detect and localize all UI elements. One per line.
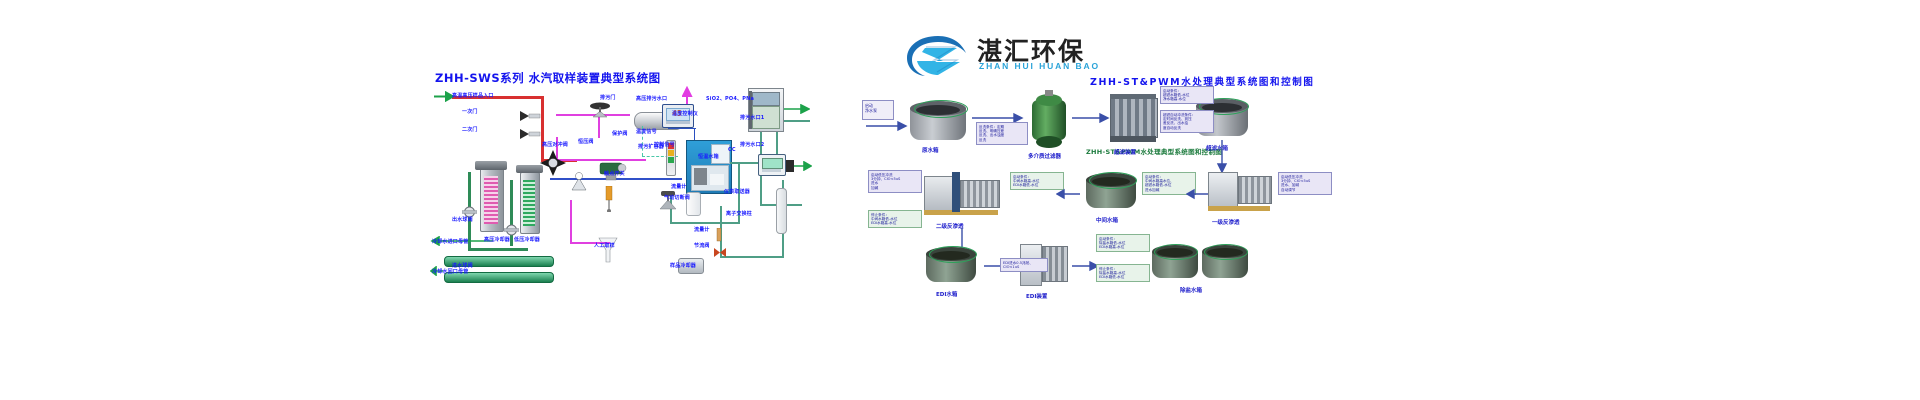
label-cooler-2: 低压冷却器 bbox=[514, 238, 540, 244]
label-sample-cooler: 样品冷却器 bbox=[670, 264, 696, 270]
cooler-lp-coil bbox=[523, 180, 535, 226]
flow-arrow-3 bbox=[1070, 112, 1110, 124]
backwash-condition-callout: 反洗条件：定期 反洗、明确压差 反洗、出水浊度 反洗 bbox=[976, 122, 1028, 145]
cooler-hp-coil bbox=[484, 176, 498, 224]
label-temp-controller: 温度控制仪 bbox=[672, 112, 698, 118]
pipe-teal-3 bbox=[670, 222, 740, 224]
diagram-right: ZHH-ST&PWM水处理典型系统图和控制图 ZHH-ST&PWM水处理典型系统… bbox=[860, 60, 1340, 310]
multimedia-filter-caption: 多介质过滤器 bbox=[1028, 152, 1061, 160]
drain-out-1-arrow-icon bbox=[784, 104, 810, 114]
product-stop-callout: 停止条件： 除盐水箱高-水位 EDI水箱低-水位 bbox=[1096, 264, 1150, 282]
label-blowdown-valve: 排污门 bbox=[600, 96, 616, 102]
label-flowmeter-1: 流量计 bbox=[671, 185, 687, 191]
product-tank-caption: 除盐水箱 bbox=[1180, 286, 1202, 294]
diagram-right-subtitle: ZHH-ST&PWM水处理典型系统图和控制图 bbox=[1086, 146, 1222, 156]
ro-first-stage-caption: 一级反渗透 bbox=[1212, 218, 1240, 226]
label-hp-impact-valve: 高压对冲阀 bbox=[542, 143, 568, 149]
analyzer-sio2-po4-pna bbox=[748, 88, 784, 132]
flow-arrow-1 bbox=[862, 120, 908, 132]
ultra-flush-callout: 超滤自动冲洗条件： 定时间反洗、到压 差反洗、出水浊 度自动反洗 bbox=[1160, 110, 1214, 133]
label-cool-out-header: 冷却水回口母管 bbox=[432, 270, 468, 276]
product-water-tank-b bbox=[1202, 244, 1248, 282]
cc-conductivity-meter bbox=[758, 154, 786, 176]
label-cc-meter: CC bbox=[728, 148, 736, 154]
label-manual-sample: 人工取样 bbox=[594, 244, 615, 250]
inlet-ball-valve-icon bbox=[504, 222, 519, 238]
manual-sampling-funnel-icon bbox=[596, 236, 620, 264]
label-inlet: 高温高压样品入口 bbox=[452, 94, 494, 100]
product-water-tank-a bbox=[1152, 244, 1198, 282]
multimedia-filter bbox=[1032, 94, 1066, 148]
label-const-press: 恒压阀 bbox=[578, 140, 594, 146]
label-valve1: 一次门 bbox=[462, 110, 478, 116]
diagram-left: ZHH-SWS系列 水汽取样装置典型系统图 bbox=[420, 60, 890, 310]
raw-water-tank bbox=[910, 100, 966, 142]
label-throttle-valve: 节流阀 bbox=[694, 244, 710, 250]
label-pneum-shutoff: 气动切断阀 bbox=[664, 196, 690, 202]
cc-sensor-probe bbox=[786, 160, 794, 172]
label-const-temp-tank: 恒温水箱 bbox=[698, 155, 719, 161]
blowdown-valve-icon bbox=[588, 101, 612, 119]
label-protect-valve: 保护阀 bbox=[612, 132, 628, 138]
edi-tank-caption: EDI水箱 bbox=[936, 290, 957, 298]
cooler-hp-head bbox=[475, 161, 507, 170]
label-drain-out-1: 排污水口1 bbox=[740, 116, 764, 122]
edi-water-tank bbox=[926, 246, 976, 286]
contact-switch-icon bbox=[602, 186, 616, 212]
label-flowmeter-2: 流量计 bbox=[694, 228, 710, 234]
screenshot-canvas: 湛汇环保 ZHAN HUI HUAN BAO ZHH-SWS系列 水汽取样装置典… bbox=[0, 0, 1920, 400]
ultrafiltration-caption: 超滤装置 bbox=[1114, 148, 1136, 156]
label-analyzer-top: SiO2、PO4、PNa bbox=[706, 97, 754, 103]
label-drain-out-2: 排污水口2 bbox=[740, 143, 764, 149]
ro-first-stage-unit bbox=[1208, 168, 1270, 214]
ultra-start-callout: 启动条件： 超滤水箱低-水位 净水箱高-水位 bbox=[1160, 86, 1214, 104]
valve-first-gate-icon bbox=[518, 109, 544, 123]
ro2-stop-callout: 停止条件： 中间水箱低-水位 EDI水箱高-水位 bbox=[868, 210, 922, 228]
label-temp-signal: 温度信号 bbox=[636, 130, 657, 136]
label-instr-bracket: 仪表取送器 bbox=[724, 190, 750, 196]
label-hp-blowdown-out: 高压排污水口 bbox=[636, 97, 667, 103]
raw-water-tank-caption: 原水箱 bbox=[922, 146, 939, 154]
pipe-teal-10 bbox=[720, 256, 782, 258]
product-start-callout: 启动条件： 除盐水箱低-水位 EDI水箱高-水位 bbox=[1096, 234, 1150, 252]
cooler-lp-head bbox=[516, 165, 543, 173]
label-contact-switch: 触点开关 bbox=[604, 172, 625, 178]
ultrafiltration-unit bbox=[1110, 94, 1156, 144]
ion-exchange-column bbox=[776, 188, 787, 234]
ro2-start-callout: 启动低压冲洗 3分钟、CIO<5uS 进水 加碱 bbox=[868, 170, 922, 193]
const-pressure-valve-icon bbox=[568, 168, 590, 192]
constant-temperature-tank bbox=[686, 140, 732, 194]
hp-impact-valve-icon bbox=[538, 148, 568, 178]
raw-pump-start-box: 启动净水泵 bbox=[862, 100, 894, 120]
edi-condition-callout: EDI进水0.5兆帕、 CIO<1uS bbox=[1000, 258, 1048, 272]
edi-device-caption: EDI装置 bbox=[1026, 292, 1047, 300]
pipe-manual-1 bbox=[570, 200, 572, 244]
label-valve2: 二次门 bbox=[462, 128, 478, 134]
pipe-cool-out bbox=[468, 248, 528, 251]
label-outlet-ball-valve: 出水球阀 bbox=[452, 218, 473, 224]
valve-second-gate-icon bbox=[518, 127, 544, 141]
label-ion-column: 离子交换柱 bbox=[726, 212, 752, 218]
middle-water-tank-caption: 中间水箱 bbox=[1096, 216, 1118, 224]
throttle-valve-icon bbox=[712, 246, 728, 260]
label-cool-in-header: 冷却水进口母管 bbox=[432, 240, 468, 246]
signal-line-ctrl bbox=[668, 128, 696, 129]
flow-arrow-left-2 bbox=[1186, 188, 1210, 200]
flowmeter-2-icon bbox=[712, 228, 726, 242]
label-cooler-1: 高压冷却器 bbox=[484, 238, 510, 244]
ro1-flush-callout: 启动低压冲洗 3分钟、CIO<5uS 进水、加碱 自动调节 bbox=[1278, 172, 1332, 195]
label-ctrl-signal: 控制信号 bbox=[654, 143, 675, 149]
middle-water-tank bbox=[1086, 172, 1136, 212]
inlet-arrow-icon bbox=[434, 91, 454, 102]
ro-second-stage-unit bbox=[924, 172, 998, 218]
flow-arrow-left-1 bbox=[1056, 188, 1082, 200]
raw-pump-start-text: 启动净水泵 bbox=[865, 103, 877, 113]
diagram-left-title: ZHH-SWS系列 水汽取样装置典型系统图 bbox=[435, 70, 661, 86]
drain-out-2-arrow-icon bbox=[794, 161, 812, 171]
